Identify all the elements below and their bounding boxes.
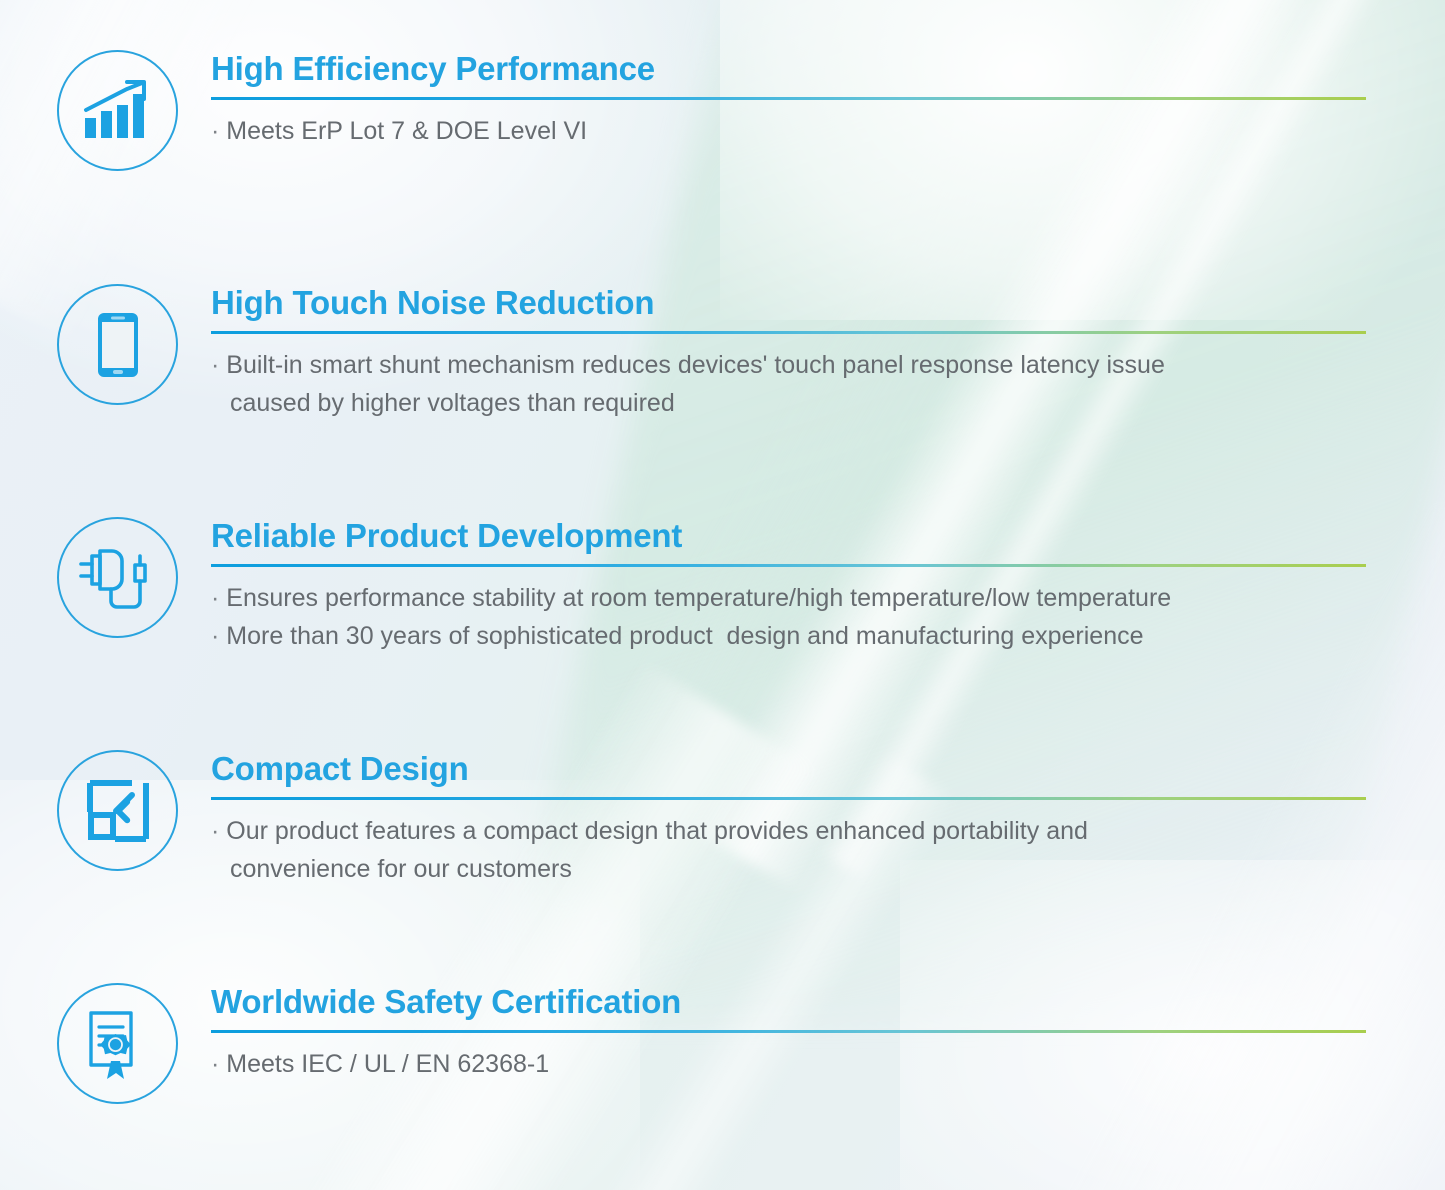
feature-divider [211, 564, 1366, 567]
feature-heading: High Touch Noise Reduction [211, 284, 1366, 322]
bullet-item: · Built-in smart shunt mechanism reduces… [211, 346, 1366, 422]
feature-heading: High Efficiency Performance [211, 50, 1366, 88]
feature-divider [211, 1030, 1366, 1033]
bullet-text-line2: convenience for our customers [211, 850, 1366, 888]
feature-highlights-page: High Efficiency Performance · Meets ErP … [0, 0, 1445, 1190]
bullet-text: Meets IEC / UL / EN 62368-1 [226, 1050, 549, 1078]
feature-heading: Compact Design [211, 750, 1366, 788]
feature-body: Worldwide Safety Certification · Meets I… [211, 983, 1366, 1083]
bullet-marker: · [211, 351, 226, 379]
bullet-item: · Meets ErP Lot 7 & DOE Level VI [211, 112, 1366, 150]
feature-divider [211, 97, 1366, 100]
bullet-marker: · [211, 817, 226, 845]
feature-bullets: · Ensures performance stability at room … [211, 579, 1366, 655]
bullet-marker: · [211, 584, 226, 612]
bullet-text: More than 30 years of sophisticated prod… [226, 622, 1143, 650]
bullet-text: Built-in smart shunt mechanism reduces d… [226, 351, 1165, 379]
bar-chart-growth-icon [57, 50, 178, 171]
feature-bullets: · Meets ErP Lot 7 & DOE Level VI [211, 112, 1366, 150]
feature-bullets: · Built-in smart shunt mechanism reduces… [211, 346, 1366, 422]
feature-body: High Touch Noise Reduction · Built-in sm… [211, 284, 1366, 422]
bullet-item: · Our product features a compact design … [211, 812, 1366, 888]
compact-resize-icon [57, 750, 178, 871]
feature-bullets: · Meets IEC / UL / EN 62368-1 [211, 1045, 1366, 1083]
feature-body: High Efficiency Performance · Meets ErP … [211, 50, 1366, 150]
bullet-marker: · [211, 117, 226, 145]
bullet-marker: · [211, 1050, 226, 1078]
smartphone-icon [57, 284, 178, 405]
power-adapter-icon [57, 517, 178, 638]
feature-list: High Efficiency Performance · Meets ErP … [0, 0, 1445, 1190]
bullet-text: Our product features a compact design th… [226, 817, 1088, 845]
feature-body: Reliable Product Development · Ensures p… [211, 517, 1366, 655]
bullet-text: Meets ErP Lot 7 & DOE Level VI [226, 117, 587, 145]
bullet-item: · More than 30 years of sophisticated pr… [211, 617, 1366, 655]
bullet-text: Ensures performance stability at room te… [226, 584, 1171, 612]
feature-bullets: · Our product features a compact design … [211, 812, 1366, 888]
feature-divider [211, 331, 1366, 334]
bullet-item: · Ensures performance stability at room … [211, 579, 1366, 617]
feature-heading: Reliable Product Development [211, 517, 1366, 555]
feature-body: Compact Design · Our product features a … [211, 750, 1366, 888]
feature-divider [211, 797, 1366, 800]
bullet-text-line2: caused by higher voltages than required [211, 384, 1366, 422]
bullet-item: · Meets IEC / UL / EN 62368-1 [211, 1045, 1366, 1083]
certificate-award-icon [57, 983, 178, 1104]
bullet-marker: · [211, 622, 226, 650]
feature-heading: Worldwide Safety Certification [211, 983, 1366, 1021]
